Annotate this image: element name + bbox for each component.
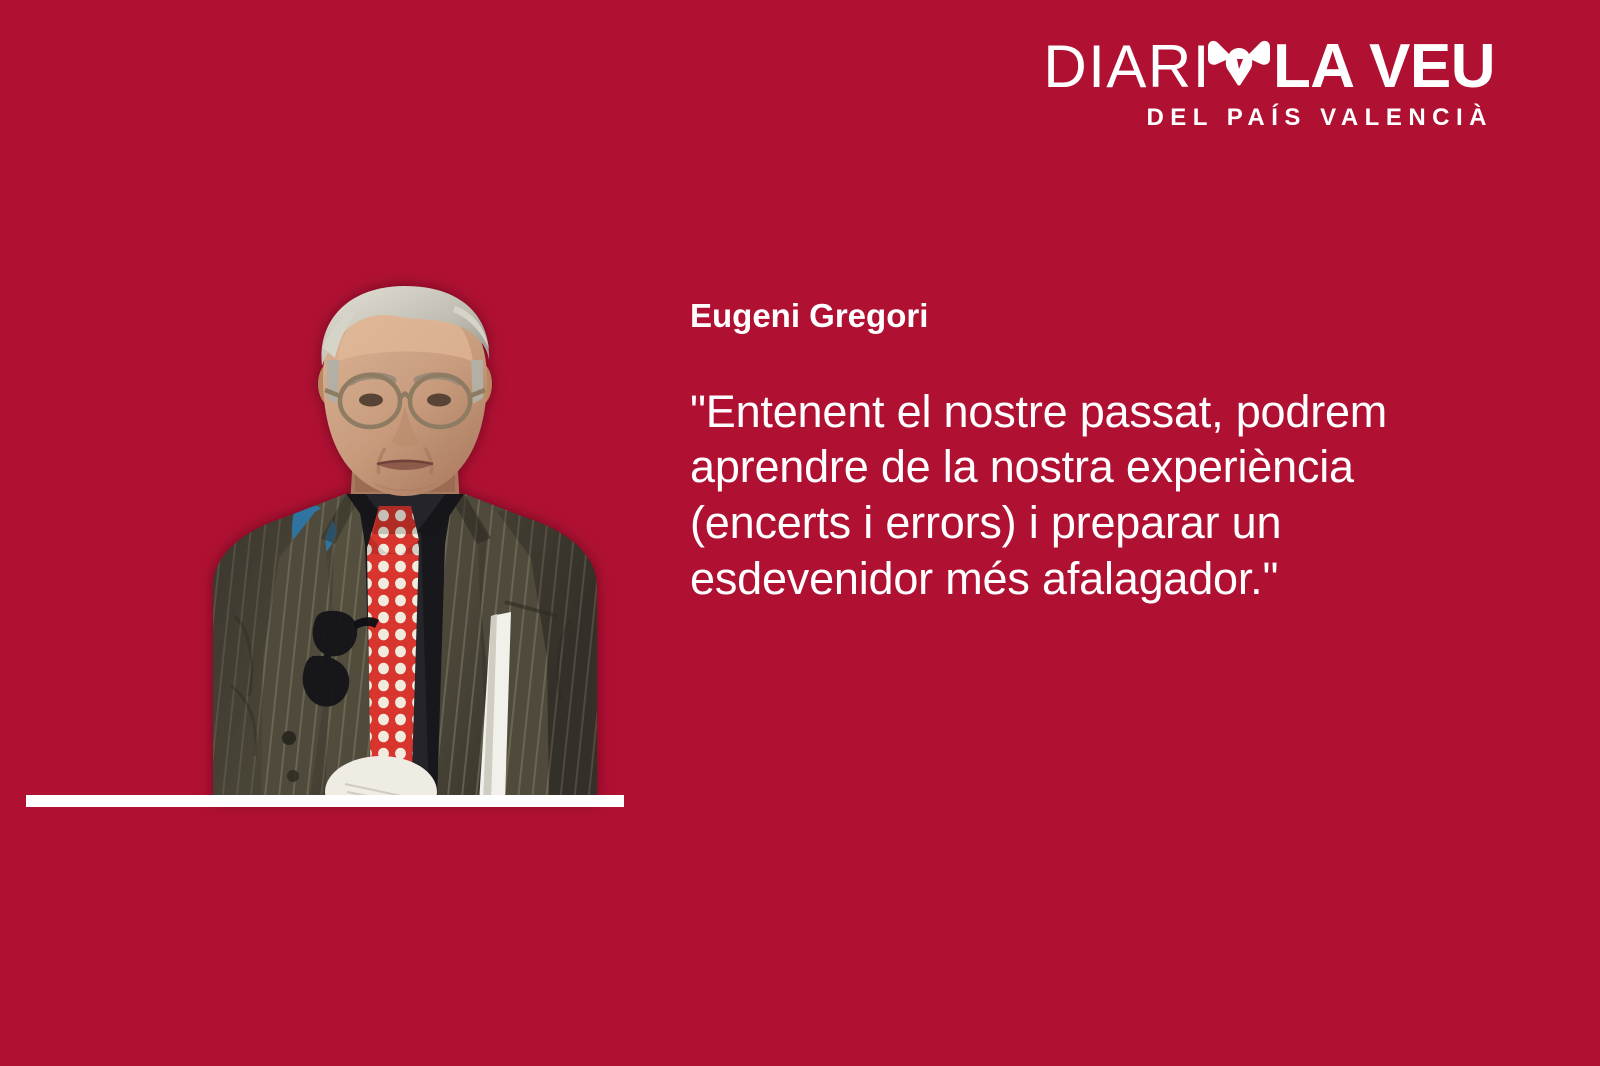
logo-subtitle: DEL PAÍS VALENCIÀ (1005, 104, 1495, 132)
white-underline-bar (26, 795, 624, 807)
speaker-name: Eugeni Gregori (690, 296, 1510, 336)
logo-wordmark-row: DIARI LA VEU (1005, 34, 1495, 100)
quote-text-block: Eugeni Gregori "Entenent el nostre passa… (690, 296, 1510, 607)
quote-card-graphic: DIARI LA VEU DEL PAÍS VALENCIÀ (0, 0, 1600, 1066)
bird-icon (1203, 39, 1275, 95)
portrait-photo (205, 286, 605, 802)
logo-word-laveu: LA VEU (1273, 36, 1495, 98)
quote-text: "Entenent el nostre passat, podrem apren… (690, 384, 1510, 607)
publication-logo: DIARI LA VEU DEL PAÍS VALENCIÀ (1005, 34, 1495, 134)
logo-word-diari: DIARI (1043, 37, 1211, 97)
